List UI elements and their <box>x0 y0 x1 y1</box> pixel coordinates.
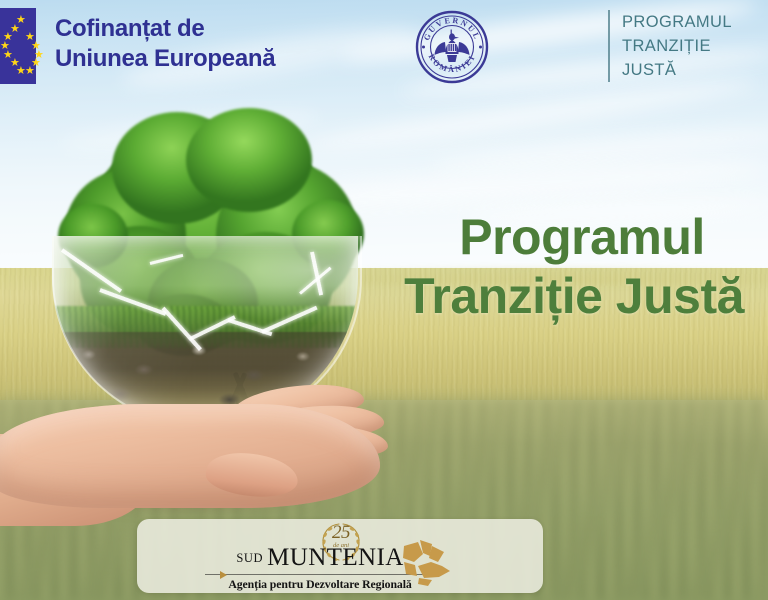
logo-name: MUNTENIA <box>267 544 404 571</box>
eu-star-icon: ★ <box>16 67 25 76</box>
eu-star-icon: ★ <box>31 42 40 51</box>
logo-prefix: SUD <box>236 551 263 565</box>
tree-canopy <box>186 108 312 212</box>
program-wordmark-text: PROGRAMUL TRANZIȚIE JUSTĂ <box>622 10 732 83</box>
guvernul-romaniei-seal: GUVERNUL ROMÂNIEI <box>414 9 490 85</box>
hand-palm <box>0 404 380 508</box>
european-union-flag: ★ ★ ★ ★ ★ ★ ★ ★ ★ ★ ★ ★ <box>0 8 36 84</box>
eu-cofinancing-text: Cofinanțat de Uniunea Europeană <box>55 14 275 73</box>
title-line-1: Programul <box>396 212 768 263</box>
program-wordmark: PROGRAMUL TRANZIȚIE JUSTĂ <box>608 10 732 82</box>
eu-star-icon: ★ <box>25 33 34 42</box>
eu-stars: ★ ★ ★ ★ ★ ★ ★ ★ ★ ★ ★ ★ <box>0 8 36 84</box>
program-wordmark-rule <box>608 10 610 82</box>
sud-muntenia-region-map <box>398 536 458 593</box>
logo-arrow-icon <box>220 571 227 579</box>
eu-star-icon: ★ <box>34 51 43 60</box>
title-line-2: Tranziție Justă <box>380 271 768 322</box>
poster-canvas: ★ ★ ★ ★ ★ ★ ★ ★ ★ ★ ★ ★ Cofinanțat de Un… <box>0 0 768 600</box>
page-title: Programul Tranziție Justă <box>396 212 768 322</box>
